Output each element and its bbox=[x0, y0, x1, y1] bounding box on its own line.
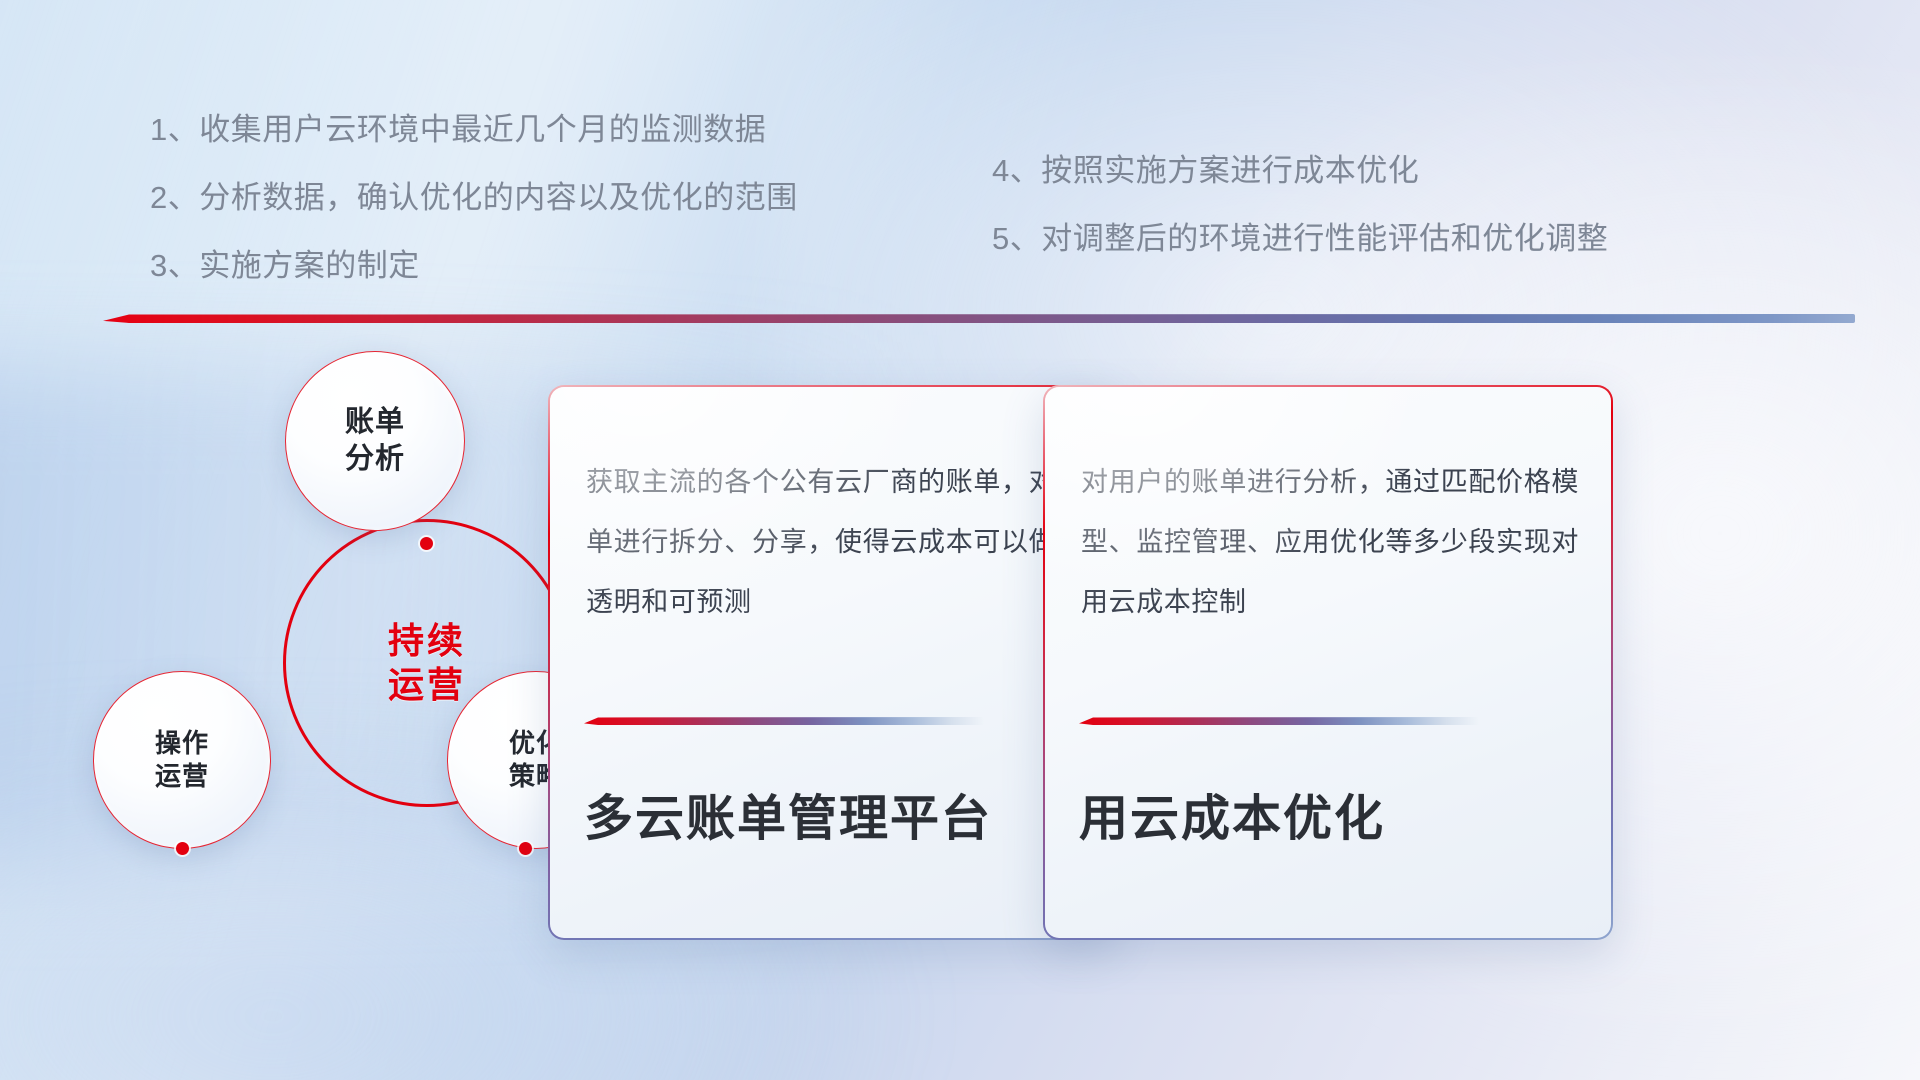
node-operations-line-2: 运营 bbox=[155, 760, 209, 793]
step-item-4: 4、按照实施方案进行成本优化 bbox=[992, 155, 1608, 186]
feature-card-2-title: 用云成本优化 bbox=[1079, 779, 1385, 850]
feature-card-2-body: 对用户的账单进行分析，通过匹配价格模型、监控管理、应用优化等多少段实现对用云成本… bbox=[1081, 453, 1579, 633]
feature-card-2-inner: 对用户的账单进行分析，通过匹配价格模型、监控管理、应用优化等多少段实现对用云成本… bbox=[1045, 387, 1611, 938]
feature-card-1-inner: 获取主流的各个公有云厂商的账单，对账单进行拆分、分享，使得云成本可以做到透明和可… bbox=[550, 387, 1116, 938]
node-bill-analysis-line-1: 账单 bbox=[345, 404, 405, 441]
feature-card-1-title: 多云账单管理平台 bbox=[584, 779, 992, 850]
feature-card-2-divider bbox=[1079, 717, 1479, 725]
diagram-node-bill-analysis[interactable]: 账单 分析 bbox=[285, 351, 465, 531]
feature-card-1-divider bbox=[584, 717, 984, 725]
node-operations-line-1: 操作 bbox=[155, 727, 209, 760]
node-bill-analysis-line-2: 分析 bbox=[345, 441, 405, 478]
step-item-2: 2、分析数据，确认优化的内容以及优化的范围 bbox=[150, 182, 798, 213]
steps-column-right: 4、按照实施方案进行成本优化 5、对调整后的环境进行性能评估和优化调整 bbox=[992, 155, 1608, 291]
diagram-node-operations[interactable]: 操作 运营 bbox=[93, 671, 271, 849]
steps-column-left: 1、收集用户云环境中最近几个月的监测数据 2、分析数据，确认优化的内容以及优化的… bbox=[150, 114, 798, 318]
feature-card-1-body: 获取主流的各个公有云厂商的账单，对账单进行拆分、分享，使得云成本可以做到透明和可… bbox=[586, 453, 1084, 633]
continuous-operations-diagram: 持续 运营 账单 分析 操作 运营 优化 策略 bbox=[95, 355, 625, 915]
slide-content: 1、收集用户云环境中最近几个月的监测数据 2、分析数据，确认优化的内容以及优化的… bbox=[0, 0, 1920, 1080]
section-divider-bar bbox=[103, 314, 1855, 323]
feature-card-cloud-cost-optimization[interactable]: 对用户的账单进行分析，通过匹配价格模型、监控管理、应用优化等多少段实现对用云成本… bbox=[1043, 385, 1613, 940]
diagram-dot-bottom-left bbox=[176, 842, 189, 855]
diagram-dot-bottom-right bbox=[519, 842, 532, 855]
step-item-5: 5、对调整后的环境进行性能评估和优化调整 bbox=[992, 223, 1608, 254]
center-label-line-1: 持续 bbox=[388, 619, 466, 663]
feature-card-multi-cloud-billing[interactable]: 获取主流的各个公有云厂商的账单，对账单进行拆分、分享，使得云成本可以做到透明和可… bbox=[548, 385, 1118, 940]
center-label-line-2: 运营 bbox=[388, 663, 466, 707]
section-divider bbox=[103, 314, 1855, 323]
diagram-dot-top bbox=[420, 537, 433, 550]
step-item-3: 3、实施方案的制定 bbox=[150, 250, 798, 281]
step-item-1: 1、收集用户云环境中最近几个月的监测数据 bbox=[150, 114, 798, 145]
